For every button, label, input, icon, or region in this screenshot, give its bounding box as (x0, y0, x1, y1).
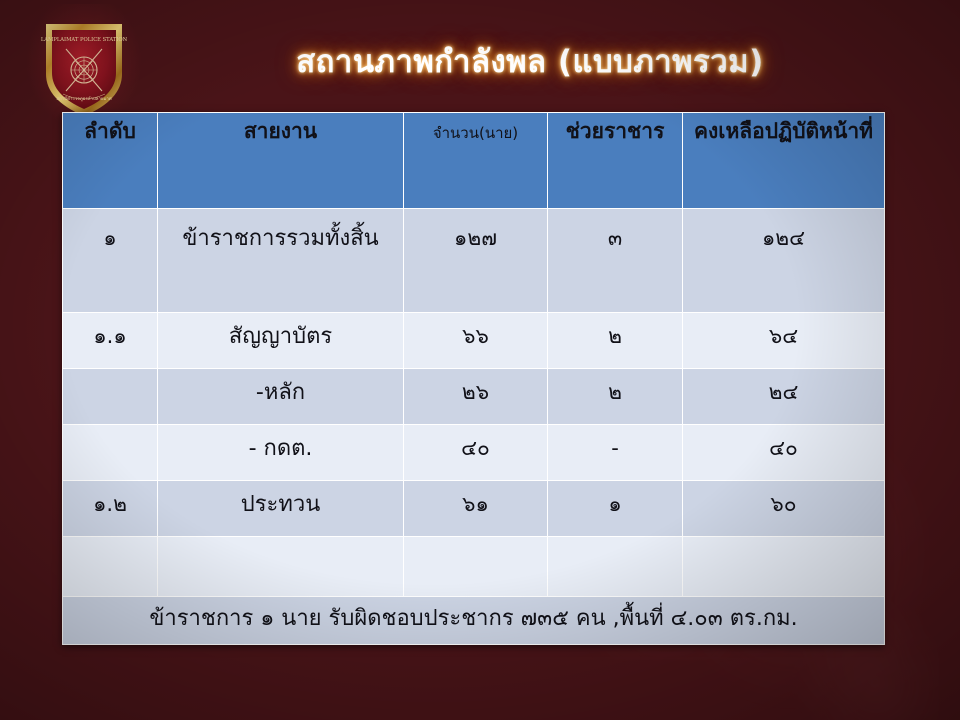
cell-total: ๖๖ (404, 313, 548, 369)
table-row: - กดต. ๔๐ - ๔๐ (63, 425, 885, 481)
police-badge-logo: LAMPLAIMAT POLICE STATION . สถานีตำรวจภู… (36, 16, 132, 120)
header-assist: ช่วยราชาร (548, 113, 683, 209)
slide-title: สถานภาพกำลังพล (แบบภาพรวม) (180, 36, 880, 86)
table-row: -หลัก ๒๖ ๒ ๒๔ (63, 369, 885, 425)
cell-total: ๖๑ (404, 481, 548, 537)
header-order: ลำดับ (63, 113, 158, 209)
cell-assist (548, 537, 683, 597)
cell-line (158, 537, 404, 597)
cell-order: ๑.๒ (63, 481, 158, 537)
table-row: ๑ ข้าราชการรวมทั้งสิ้น ๑๒๗ ๓ ๑๒๔ (63, 209, 885, 313)
badge-bottom-label: สถานีตำรวจภูธรลำปลายมาศ (56, 96, 111, 102)
cell-line: - กดต. (158, 425, 404, 481)
cell-order (63, 369, 158, 425)
header-row: ลำดับ สายงาน จำนวน(นาย) ช่วยราชาร คงเหลื… (63, 113, 885, 209)
table-row: ๑.๑ สัญญาบัตร ๖๖ ๒ ๖๔ (63, 313, 885, 369)
header-total: จำนวน(นาย) (404, 113, 548, 209)
cell-remain: ๒๔ (683, 369, 885, 425)
header-line: สายงาน (158, 113, 404, 209)
cell-total (404, 537, 548, 597)
header-remain: คงเหลือปฏิบัติหน้าที่ (683, 113, 885, 209)
cell-total: ๑๒๗ (404, 209, 548, 313)
cell-remain: ๑๒๔ (683, 209, 885, 313)
staffing-table-container: ลำดับ สายงาน จำนวน(นาย) ช่วยราชาร คงเหลื… (62, 112, 884, 645)
cell-order (63, 425, 158, 481)
badge-top-text: LAMPLAIMAT POLICE STATION (41, 37, 128, 43)
badge-bottom-text: . (36, 16, 37, 18)
table-footer-row: ข้าราชการ ๑ นาย รับผิดชอบประชากร ๗๓๕ คน … (63, 597, 885, 645)
cell-total: ๒๖ (404, 369, 548, 425)
footer-summary-text: ข้าราชการ ๑ นาย รับผิดชอบประชากร ๗๓๕ คน … (63, 597, 885, 645)
cell-assist: ๑ (548, 481, 683, 537)
table-body: ๑ ข้าราชการรวมทั้งสิ้น ๑๒๗ ๓ ๑๒๔ ๑.๑ สัญ… (63, 209, 885, 645)
table-header: ลำดับ สายงาน จำนวน(นาย) ช่วยราชาร คงเหลื… (63, 113, 885, 209)
cell-remain: ๖๐ (683, 481, 885, 537)
presentation-slide: LAMPLAIMAT POLICE STATION . สถานีตำรวจภู… (0, 0, 960, 720)
cell-line: -หลัก (158, 369, 404, 425)
table-row-empty (63, 537, 885, 597)
cell-remain: ๔๐ (683, 425, 885, 481)
cell-order: ๑.๑ (63, 313, 158, 369)
cell-line: ข้าราชการรวมทั้งสิ้น (158, 209, 404, 313)
cell-assist: ๓ (548, 209, 683, 313)
table-row: ๑.๒ ประทวน ๖๑ ๑ ๖๐ (63, 481, 885, 537)
staffing-table: ลำดับ สายงาน จำนวน(นาย) ช่วยราชาร คงเหลื… (62, 112, 885, 645)
cell-line: สัญญาบัตร (158, 313, 404, 369)
cell-remain (683, 537, 885, 597)
cell-remain: ๖๔ (683, 313, 885, 369)
cell-assist: ๒ (548, 313, 683, 369)
cell-line: ประทวน (158, 481, 404, 537)
cell-total: ๔๐ (404, 425, 548, 481)
cell-order (63, 537, 158, 597)
cell-order: ๑ (63, 209, 158, 313)
cell-assist: ๒ (548, 369, 683, 425)
shield-icon: LAMPLAIMAT POLICE STATION . สถานีตำรวจภู… (36, 16, 132, 120)
cell-assist: - (548, 425, 683, 481)
